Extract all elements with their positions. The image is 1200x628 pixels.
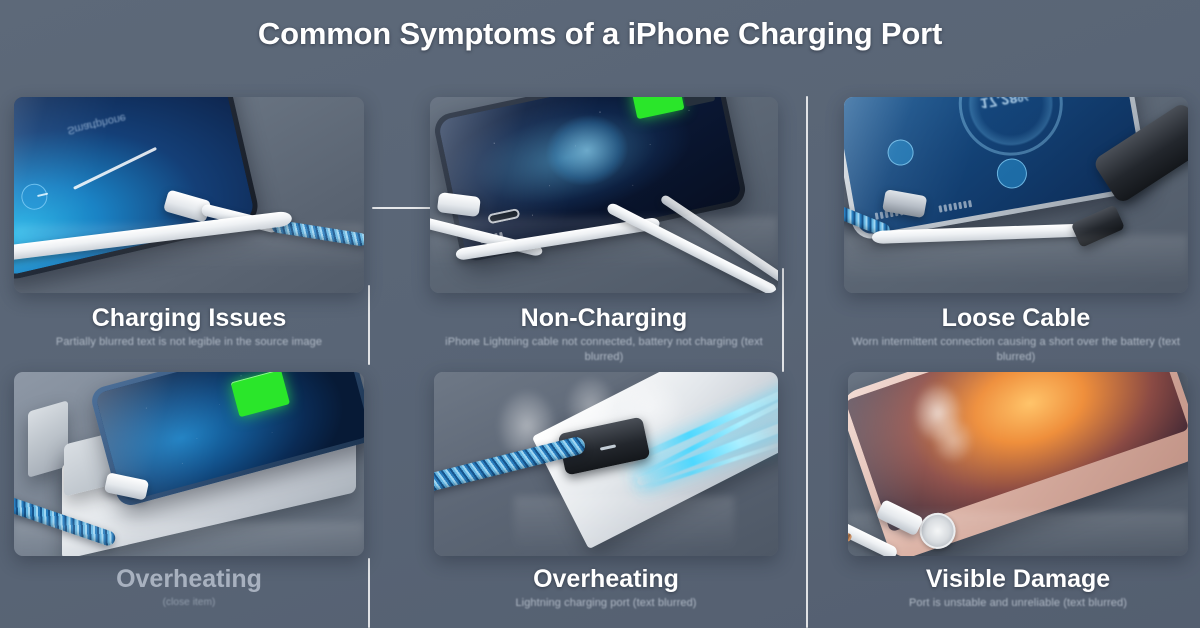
caption-non-charging: Non-Charging iPhone Lightning cable not … [430,305,778,365]
caption-subtitle: iPhone Lightning cable not connected, ba… [430,335,778,365]
panel-overheating-center[interactable]: Overheating Lightning charging port (tex… [434,372,778,628]
panel-image-overheating-center [434,372,778,556]
caption-subtitle: Partially blurred text is not legible in… [14,335,364,350]
panel-non-charging[interactable]: Non-Charging iPhone Lightning cable not … [430,97,778,365]
panel-image-visible-damage [848,372,1188,556]
surface-reflection [514,496,734,552]
scene-loose-cable: 17.28% charging [844,97,1188,293]
surface-reflection [14,522,364,556]
caption-title: Non-Charging [430,305,778,331]
charge-gauge-ring [951,97,1071,164]
screen-ui-circle [19,181,50,212]
panel-image-charging-issues: Smartphone [14,97,364,293]
screen-text-label: Smartphone [66,111,127,136]
surface-reflection [14,225,364,271]
scene-non-charging [430,97,778,293]
scene-overheating-left: Charge [14,372,364,556]
caption-subtitle: Worn intermittent connection causing a s… [844,335,1188,365]
caption-loose-cable: Loose Cable Worn intermittent connection… [844,305,1188,365]
infographic-canvas: Common Symptoms of a iPhone Charging Por… [0,0,1200,628]
surface-reflection [430,217,778,269]
panel-charging-issues[interactable]: Smartphone Charging Issu [14,97,364,365]
panel-image-loose-cable: 17.28% charging [844,97,1188,293]
caption-subtitle: Port is unstable and unreliable (text bl… [848,596,1188,611]
caption-charging-issues: Charging Issues Partially blurred text i… [14,305,364,350]
caption-title: Overheating [434,566,778,592]
caption-overheating-left: Overheating (close item) [14,566,364,610]
screen-progress-bar [73,147,157,190]
caption-title: Charging Issues [14,305,364,331]
panel-visible-damage[interactable]: Visible Damage Port is unstable and unre… [848,372,1188,628]
scene-visible-damage [848,372,1188,556]
divider-vertical-right-full [806,96,808,628]
divider-vertical-left-lower [368,558,370,628]
caption-title: Overheating [14,566,364,592]
screen-icon-battery [995,156,1030,191]
panel-loose-cable[interactable]: 17.28% charging [844,97,1188,365]
caption-visible-damage: Visible Damage Port is unstable and unre… [848,566,1188,611]
caption-title: Visible Damage [848,566,1188,592]
surface-reflection [844,235,1188,283]
scene-overheating-center [434,372,778,556]
smoke-wisp-2 [926,410,980,470]
caption-subtitle: Lightning charging port (text blurred) [434,596,778,611]
panel-image-overheating-left: Charge [14,372,364,556]
caption-overheating-center: Overheating Lightning charging port (tex… [434,566,778,611]
surface-reflection [848,512,1188,556]
divider-vertical-left-upper [368,285,370,365]
scene-charging-issues: Smartphone [14,97,364,293]
panel-image-non-charging [430,97,778,293]
divider-vertical-center-upper [782,268,784,372]
caption-title: Loose Cable [844,305,1188,331]
caption-subtitle: (close item) [14,596,364,610]
page-title: Common Symptoms of a iPhone Charging Por… [0,16,1200,52]
screen-icon-bolt [886,137,916,167]
panel-overheating-left[interactable]: Charge Overheating (close item) [14,372,364,628]
